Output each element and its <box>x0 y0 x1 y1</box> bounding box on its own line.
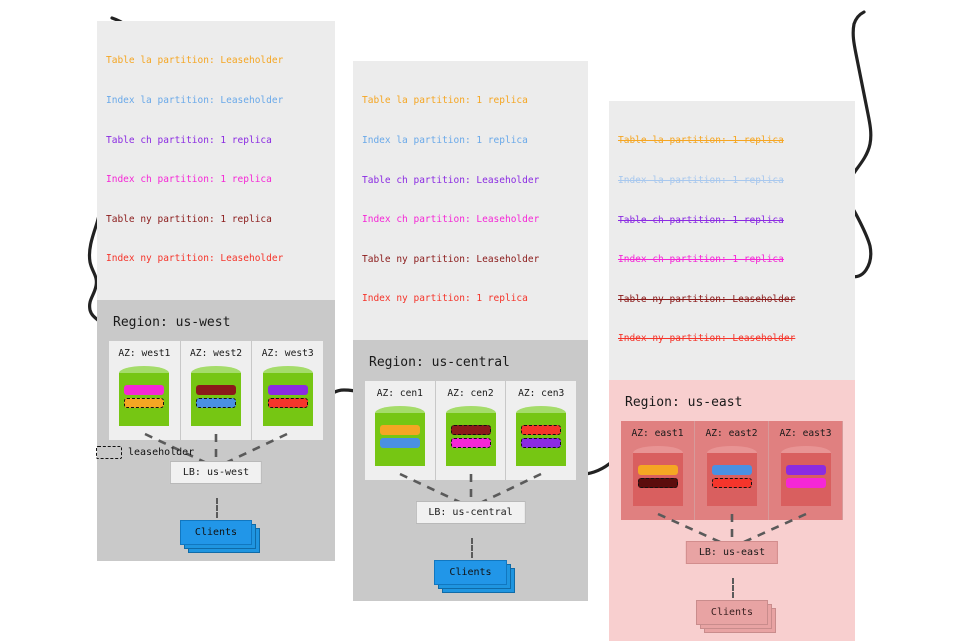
database-cylinder[interactable] <box>633 446 683 510</box>
leaseholder-swatch-icon <box>96 446 122 459</box>
replica-bar <box>521 438 561 448</box>
cluster-us-east: Table la partition: 1 replica Index la p… <box>609 101 855 641</box>
status-line: Table la partition: 1 replica <box>618 134 846 147</box>
clients-box[interactable]: Clients <box>180 520 252 545</box>
az-cell-cen2[interactable]: AZ: cen2 <box>436 381 507 480</box>
az-cell-cen3[interactable]: AZ: cen3 <box>506 381 576 480</box>
status-line: Index la partition: 1 replica <box>362 134 579 147</box>
replica-bar <box>380 425 420 435</box>
az-row: AZ: west1 AZ: west2 <box>109 341 323 440</box>
status-legend-us-central: Table la partition: 1 replica Index la p… <box>353 61 588 340</box>
az-cell-west2[interactable]: AZ: west2 <box>181 341 253 440</box>
status-line: Table ny partition: 1 replica <box>106 213 326 226</box>
replica-bar <box>380 438 420 448</box>
status-line: Index ny partition: Leaseholder <box>106 252 326 265</box>
status-line: Index ny partition: Leaseholder <box>618 332 846 345</box>
az-label: AZ: cen2 <box>442 388 500 399</box>
replica-bar <box>451 438 491 448</box>
replica-bar <box>638 465 678 475</box>
az-cell-cen1[interactable]: AZ: cen1 <box>365 381 436 480</box>
load-balancer-us-west[interactable]: LB: us-west <box>170 461 262 484</box>
lb-to-clients-stem <box>621 578 843 598</box>
replica-bar <box>521 425 561 435</box>
replica-bar <box>124 385 164 395</box>
az-cell-west3[interactable]: AZ: west3 <box>252 341 323 440</box>
replica-bar <box>786 465 826 475</box>
status-line: Table ny partition: Leaseholder <box>618 293 846 306</box>
replica-bars <box>124 385 164 411</box>
clients-stack-us-east[interactable]: Clients <box>696 600 768 625</box>
region-box-us-west: Region: us-west AZ: west1 AZ: west2 <box>97 300 335 561</box>
status-line: Table ch partition: 1 replica <box>618 214 846 227</box>
lb-connector-area: LB: us-east <box>621 520 843 560</box>
replica-bars <box>712 465 752 491</box>
replica-bars <box>196 385 236 411</box>
leaseholder-legend: leaseholder <box>96 446 194 459</box>
lb-connector-area: LB: us-central <box>365 480 576 520</box>
replica-bar <box>268 385 308 395</box>
load-balancer-us-east[interactable]: LB: us-east <box>686 541 778 564</box>
az-label: AZ: east2 <box>701 428 762 439</box>
load-balancer-us-central[interactable]: LB: us-central <box>415 501 525 524</box>
replica-bar <box>196 398 236 408</box>
replica-bar <box>451 425 491 435</box>
database-cylinder[interactable] <box>375 406 425 470</box>
replica-bar <box>786 478 826 488</box>
az-label: AZ: east3 <box>775 428 836 439</box>
az-label: AZ: cen3 <box>512 388 570 399</box>
status-line: Table ch partition: 1 replica <box>106 134 326 147</box>
leaseholder-legend-label: leaseholder <box>128 447 194 458</box>
replica-bar <box>638 478 678 488</box>
az-row: AZ: cen1 AZ: cen2 <box>365 381 576 480</box>
replica-bar <box>268 398 308 408</box>
az-label: AZ: west2 <box>187 348 246 359</box>
lb-to-clients-stem <box>109 498 323 518</box>
region-box-us-central: Region: us-central AZ: cen1 AZ: cen2 <box>353 340 588 601</box>
database-cylinder[interactable] <box>446 406 496 470</box>
status-line: Index ny partition: 1 replica <box>362 292 579 305</box>
dashed-stem <box>471 538 473 558</box>
clients-stack-us-central[interactable]: Clients <box>434 560 506 585</box>
replica-bar <box>712 478 752 488</box>
lb-to-clients-stem <box>365 538 576 558</box>
status-line: Table la partition: 1 replica <box>362 94 579 107</box>
status-line: Table ch partition: Leaseholder <box>362 174 579 187</box>
database-cylinder[interactable] <box>781 446 831 510</box>
az-cell-east2[interactable]: AZ: east2 <box>695 421 769 520</box>
status-line: Index ch partition: Leaseholder <box>362 213 579 226</box>
az-label: AZ: west1 <box>115 348 174 359</box>
replica-bars <box>638 465 678 491</box>
replica-bars <box>451 425 491 451</box>
cluster-us-central: Table la partition: 1 replica Index la p… <box>353 61 588 601</box>
az-label: AZ: cen1 <box>371 388 429 399</box>
az-cell-east3[interactable]: AZ: east3 <box>769 421 843 520</box>
clients-box[interactable]: Clients <box>696 600 768 625</box>
database-cylinder[interactable] <box>516 406 566 470</box>
replica-bar <box>124 398 164 408</box>
region-title: Region: us-east <box>625 395 841 410</box>
clients-box[interactable]: Clients <box>434 560 506 585</box>
az-label: AZ: west3 <box>258 348 317 359</box>
cluster-us-west: Table la partition: Leaseholder Index la… <box>97 21 335 561</box>
database-cylinder[interactable] <box>119 366 169 430</box>
status-line: Index ch partition: 1 replica <box>618 253 846 266</box>
status-line: Index la partition: 1 replica <box>618 174 846 187</box>
dashed-stem <box>216 498 218 518</box>
database-cylinder[interactable] <box>263 366 313 430</box>
region-box-us-east: Region: us-east AZ: east1 AZ: east2 <box>609 380 855 641</box>
az-row: AZ: east1 AZ: east2 <box>621 421 843 520</box>
replica-bars <box>268 385 308 411</box>
dashed-stem <box>732 578 734 598</box>
az-label: AZ: east1 <box>627 428 688 439</box>
status-legend-us-west: Table la partition: Leaseholder Index la… <box>97 21 335 300</box>
status-line: Index la partition: Leaseholder <box>106 94 326 107</box>
status-legend-us-east: Table la partition: 1 replica Index la p… <box>609 101 855 380</box>
az-cell-east1[interactable]: AZ: east1 <box>621 421 695 520</box>
status-line: Table ny partition: Leaseholder <box>362 253 579 266</box>
clients-stack-us-west[interactable]: Clients <box>180 520 252 545</box>
status-line: Table la partition: Leaseholder <box>106 54 326 67</box>
replica-bar <box>196 385 236 395</box>
replica-bars <box>521 425 561 451</box>
region-title: Region: us-central <box>369 355 574 370</box>
status-line: Index ch partition: 1 replica <box>106 173 326 186</box>
az-cell-west1[interactable]: AZ: west1 <box>109 341 181 440</box>
replica-bar <box>712 465 752 475</box>
replica-bars <box>786 465 826 491</box>
database-cylinder[interactable] <box>707 446 757 510</box>
database-cylinder[interactable] <box>191 366 241 430</box>
replica-bars <box>380 425 420 451</box>
region-title: Region: us-west <box>113 315 321 330</box>
